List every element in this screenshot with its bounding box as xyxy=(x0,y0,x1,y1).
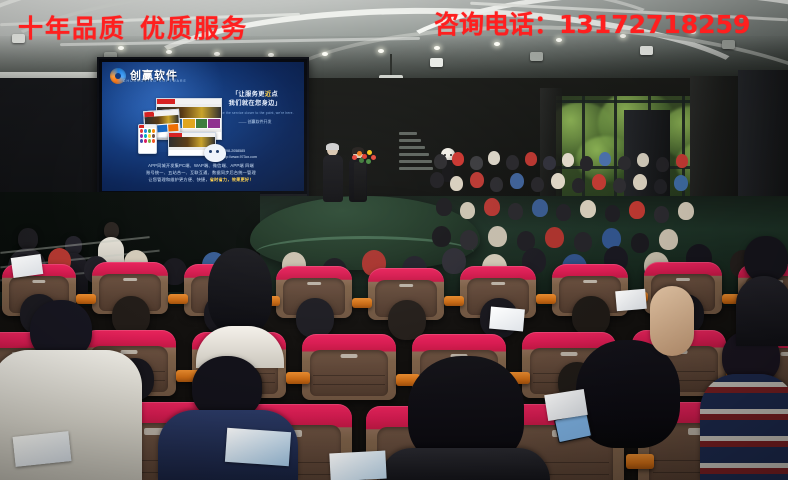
person-hair xyxy=(576,340,680,448)
ceiling-downlight xyxy=(322,52,328,56)
seated-person xyxy=(736,236,788,346)
audience-head xyxy=(506,155,519,170)
flower xyxy=(371,155,376,160)
stair-step xyxy=(399,132,417,135)
ceiling-spotlight xyxy=(640,46,653,55)
stair-step xyxy=(399,160,432,163)
raised-arm xyxy=(650,286,694,356)
slide-bullets: APP同城开发集PC端、WAP端、微信端、APP端 四端 账号统一、五站合一、互… xyxy=(116,162,286,183)
stair-step xyxy=(399,153,429,156)
handout-paper xyxy=(615,289,647,312)
audience-head xyxy=(543,156,556,170)
brand-name-en: CHUANGYING SOFTWARE xyxy=(123,79,187,83)
flower-leaf xyxy=(366,159,371,164)
audience-head xyxy=(637,153,649,167)
audience-head xyxy=(580,156,593,171)
audience-head xyxy=(452,152,464,166)
audience-head xyxy=(599,152,611,166)
audience-head xyxy=(654,179,667,194)
headline-english: Make the service closer to the point, we… xyxy=(212,111,298,115)
person-arm xyxy=(650,286,694,356)
audience-head xyxy=(633,174,647,190)
seat-armrest xyxy=(444,296,464,306)
audience-head xyxy=(613,178,626,193)
ceiling-spotlight xyxy=(722,40,735,49)
seated-person xyxy=(196,248,284,368)
flower xyxy=(352,155,357,160)
audience-head xyxy=(629,201,645,219)
ceiling-downlight xyxy=(214,52,220,56)
person-hair xyxy=(326,143,339,150)
seat-armrest xyxy=(168,294,188,304)
audience-head xyxy=(508,203,523,220)
ceiling-downlight xyxy=(434,46,440,50)
person-torso xyxy=(736,276,788,346)
audience-head xyxy=(436,198,452,216)
audience-head xyxy=(490,177,503,192)
flower-leaf xyxy=(359,158,364,163)
ceiling-downlight xyxy=(166,50,172,54)
audience-head xyxy=(484,198,500,216)
headline-line-1: 「让服务更近点 xyxy=(212,90,298,99)
device-mockups xyxy=(138,98,224,160)
photo-canvas: 创赢软件 CHUANGYING SOFTWARE 「让服务更近点 我们就在您身边… xyxy=(0,0,788,480)
person-hair xyxy=(208,248,272,334)
audience-head xyxy=(618,156,631,170)
stage-stairs xyxy=(399,130,433,182)
person-body xyxy=(323,155,343,202)
audience-head xyxy=(296,298,334,338)
audience-head xyxy=(676,154,688,168)
phone-label: 咨询电话： xyxy=(434,10,559,39)
speaker-person xyxy=(322,144,344,202)
wechat-bubble-icon xyxy=(204,144,226,162)
audience-head xyxy=(450,176,463,191)
audience-head xyxy=(572,296,610,336)
audience-head xyxy=(678,202,694,220)
audience-head xyxy=(470,156,483,170)
seated-person xyxy=(380,356,550,480)
handout-paper xyxy=(225,428,291,466)
phone-overlay: 咨询电话：13172718259 xyxy=(434,5,750,41)
seated-person xyxy=(700,330,788,480)
seat-armrest xyxy=(352,298,372,308)
ceiling-downlight xyxy=(118,46,124,50)
phone-mockup xyxy=(138,124,157,154)
handout-paper xyxy=(489,307,525,332)
slogan-part-2: 优质服务 xyxy=(140,14,248,43)
audience-head xyxy=(656,157,669,172)
stair-step xyxy=(399,139,421,142)
phone-number: 13172718259 xyxy=(559,10,750,39)
audience-head xyxy=(525,152,537,166)
audience-head xyxy=(674,175,688,191)
audience-head xyxy=(510,173,524,189)
slide-contact: 0798-2058585 http://www.973cx.com xyxy=(216,148,296,160)
seat-armrest xyxy=(536,294,556,304)
ceiling-spotlight xyxy=(430,58,443,67)
slogan-overlay: 十年品质优质服务 xyxy=(18,9,248,45)
stair-step xyxy=(399,146,425,149)
slogan-part-1: 十年品质 xyxy=(18,14,126,43)
bullet-line-3: 让您管理和维护更方便、快捷，省时省力，效果更好！ xyxy=(116,176,286,183)
audience-head xyxy=(460,202,475,219)
app-tile-grid xyxy=(139,128,156,144)
ceiling-downlight xyxy=(494,42,500,46)
audience-head xyxy=(605,205,620,222)
bullet-line-1: APP同城开发集PC端、WAP端、微信端、APP端 四端 xyxy=(116,162,286,169)
person-torso xyxy=(380,448,550,480)
ceiling-downlight xyxy=(378,49,384,53)
audience-head xyxy=(488,151,500,165)
audience-head xyxy=(572,178,585,193)
audience-head xyxy=(551,173,565,189)
projection-screen: 创赢软件 CHUANGYING SOFTWARE 「让服务更近点 我们就在您身边… xyxy=(97,57,309,209)
handout-paper xyxy=(11,254,43,278)
handout-paper xyxy=(13,431,72,467)
stair-step xyxy=(399,167,433,170)
audience-head xyxy=(430,172,444,188)
audience-head xyxy=(580,200,596,218)
audience-head xyxy=(532,199,548,217)
slide-headline: 「让服务更近点 我们就在您身边」 Make the service closer… xyxy=(212,90,298,125)
contact-website: http://www.973cx.com xyxy=(222,154,257,160)
audience-head xyxy=(434,154,447,169)
headline-signature: —— 创赢软件开发 xyxy=(212,119,298,125)
flower-arrangement xyxy=(352,150,378,166)
audience-head xyxy=(470,172,484,188)
bullet-line-2: 账号统一、五站合一、互联互通、数据同步后台统一管理 xyxy=(116,169,286,176)
headline-line-2: 我们就在您身边」 xyxy=(212,99,298,108)
presentation-slide: 创赢软件 CHUANGYING SOFTWARE 「让服务更近点 我们就在您身边… xyxy=(102,62,304,191)
audience-head xyxy=(562,153,574,167)
podium xyxy=(354,162,366,200)
audience-head xyxy=(556,204,571,221)
audience-head xyxy=(654,206,669,223)
flower xyxy=(367,150,372,155)
person-torso xyxy=(700,374,788,480)
audience-head xyxy=(531,177,544,192)
ceiling-spotlight xyxy=(530,52,543,61)
audience-head xyxy=(592,174,606,190)
handout-paper xyxy=(329,451,386,480)
